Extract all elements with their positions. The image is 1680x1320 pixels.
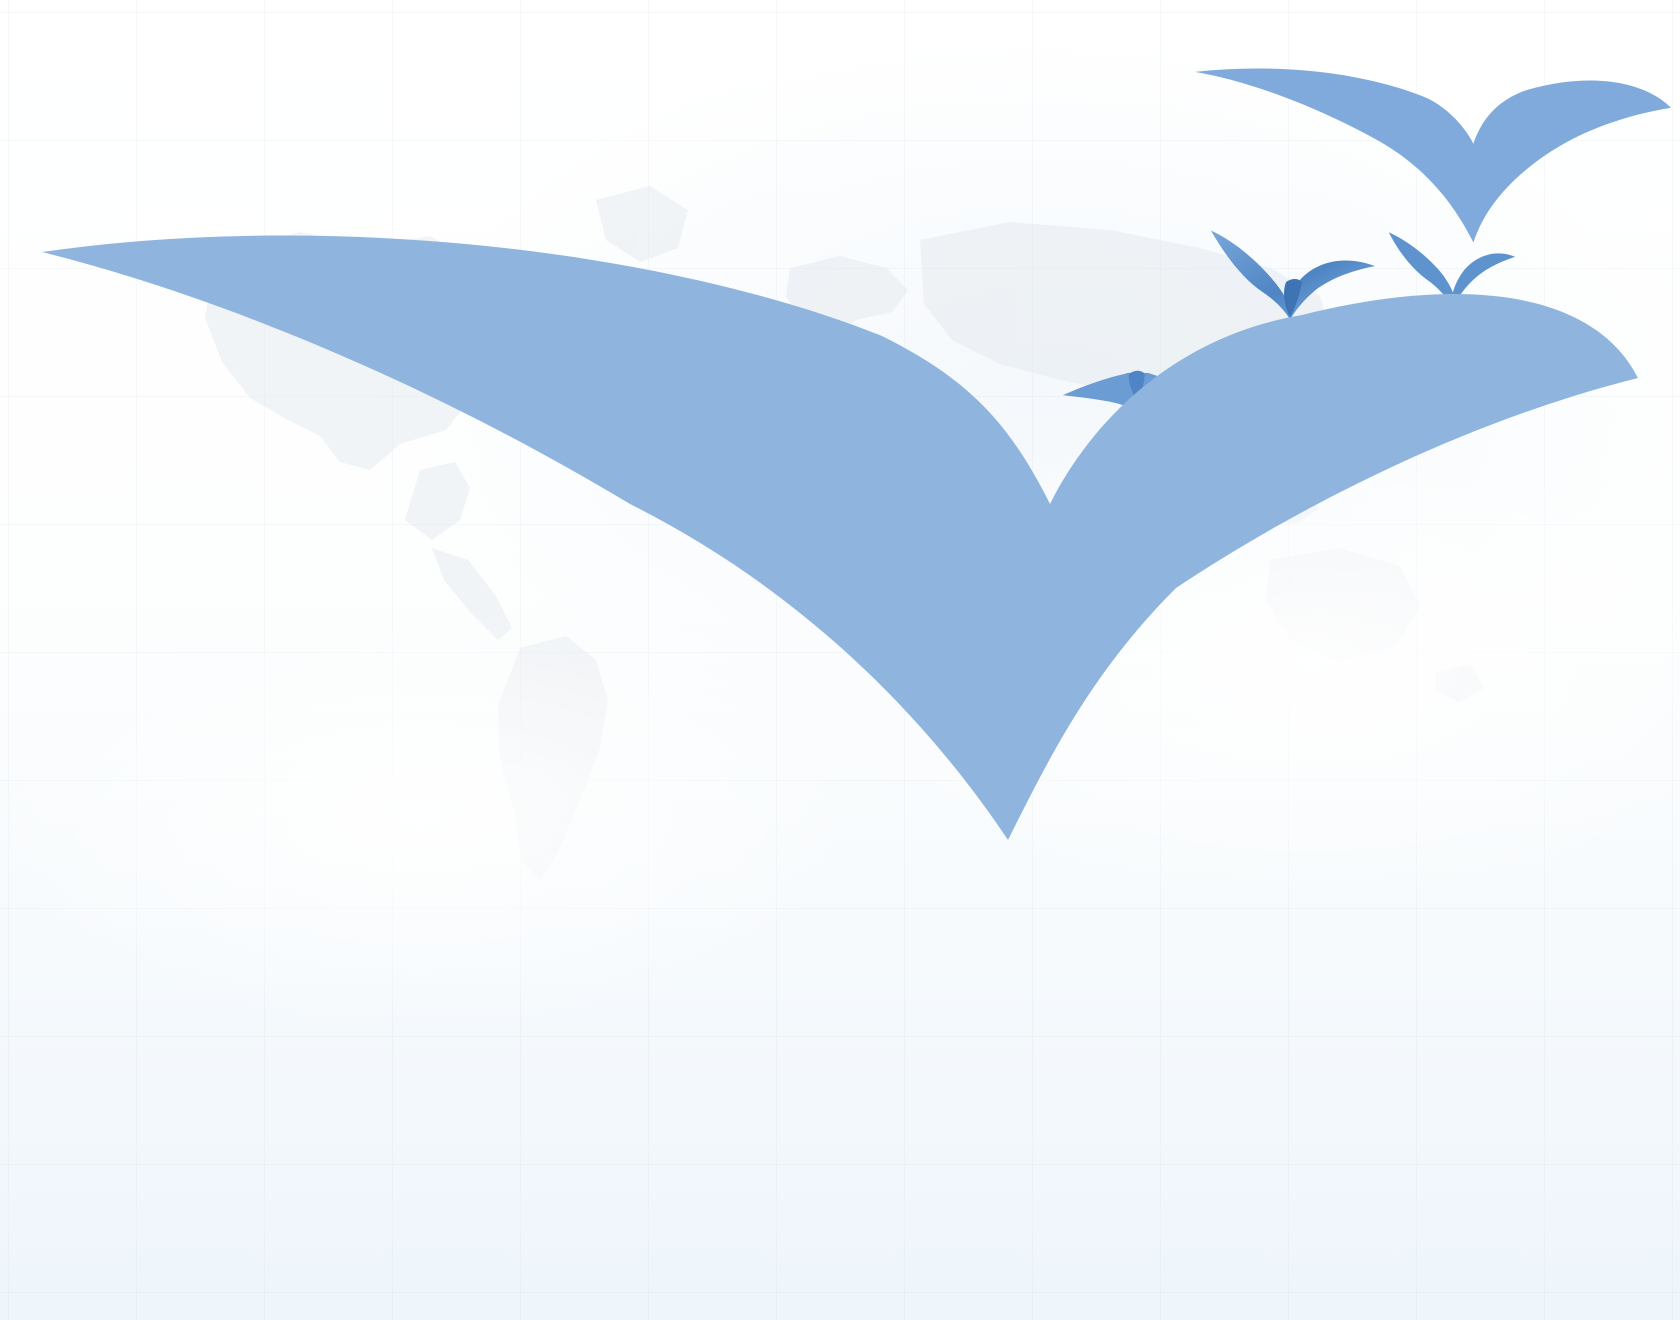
slide-header: 众旺科技 THINKING 众行远旺 成就未来	[0, 0, 1680, 66]
tagline-left-text: 众行远旺	[0, 48, 64, 65]
page-title: 众旺智能科技（天津）有限公司	[0, 66, 1680, 90]
page-subtitle: 工业智能装备科技创新企业	[0, 114, 1680, 138]
logo-text: 众旺科技 THINKING	[0, 0, 1680, 42]
presentation-slide: 众旺科技 THINKING 众行远旺 成就未来 众旺智能科技（天津）有限公司 众…	[0, 0, 1680, 1320]
page-title-reflection: 众旺智能科技（天津）有限公司	[0, 90, 1680, 114]
company-tagline: 众行远旺 成就未来	[0, 42, 1680, 66]
tagline-right-text: 成就未来	[68, 48, 132, 65]
title-area: 众旺智能科技（天津）有限公司 众旺智能科技（天津）有限公司	[0, 66, 1680, 114]
wave-decoration	[0, 138, 1680, 743]
logo-chinese-name: 众旺科技	[0, 0, 1680, 24]
company-logo[interactable]: 众旺科技 THINKING	[0, 0, 1680, 42]
logo-english-name: THINKING	[0, 24, 1680, 42]
